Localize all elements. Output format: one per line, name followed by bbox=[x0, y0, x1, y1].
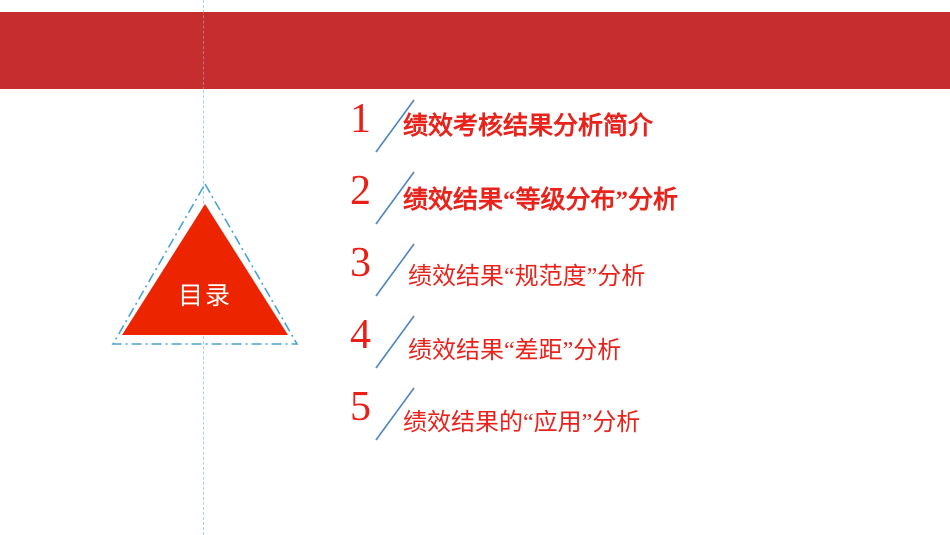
triangle-svg bbox=[105, 178, 305, 353]
agenda-item-1-number: 1 bbox=[350, 96, 371, 142]
agenda-item-1[interactable]: 1 绩效考核结果分析简介 bbox=[350, 96, 910, 168]
agenda-item-5-number: 5 bbox=[350, 384, 371, 430]
triangle-label: 目录 bbox=[105, 276, 305, 312]
agenda-item-5[interactable]: 5 绩效结果的“应用”分析 bbox=[350, 384, 910, 456]
agenda-item-3[interactable]: 3 绩效结果“规范度”分析 bbox=[350, 240, 910, 312]
agenda-item-1-label: 绩效考核结果分析简介 bbox=[403, 106, 653, 142]
agenda-item-3-label: 绩效结果“规范度”分析 bbox=[408, 256, 645, 291]
top-red-banner bbox=[0, 12, 950, 89]
agenda-item-2-label: 绩效结果“等级分布”分析 bbox=[403, 180, 678, 216]
agenda-item-4[interactable]: 4 绩效结果“差距”分析 bbox=[350, 312, 910, 384]
solid-red-triangle-icon bbox=[122, 204, 288, 335]
agenda-item-4-label: 绩效结果“差距”分析 bbox=[408, 330, 621, 365]
agenda-item-2[interactable]: 2 绩效结果“等级分布”分析 bbox=[350, 168, 910, 240]
agenda-item-4-number: 4 bbox=[350, 312, 371, 358]
agenda-list: 1 绩效考核结果分析简介 2 绩效结果“等级分布”分析 3 绩效结果“规范度”分… bbox=[350, 96, 910, 456]
agenda-triangle-graphic: 目录 bbox=[105, 178, 305, 353]
agenda-item-3-number: 3 bbox=[350, 240, 371, 286]
slide-canvas: 目录 1 绩效考核结果分析简介 2 绩效结果“等级分布”分析 3 绩效结果“规范… bbox=[0, 0, 950, 535]
vertical-guide-line-over-banner bbox=[203, 0, 204, 90]
agenda-item-2-number: 2 bbox=[350, 168, 371, 214]
agenda-item-5-label: 绩效结果的“应用”分析 bbox=[403, 402, 640, 437]
